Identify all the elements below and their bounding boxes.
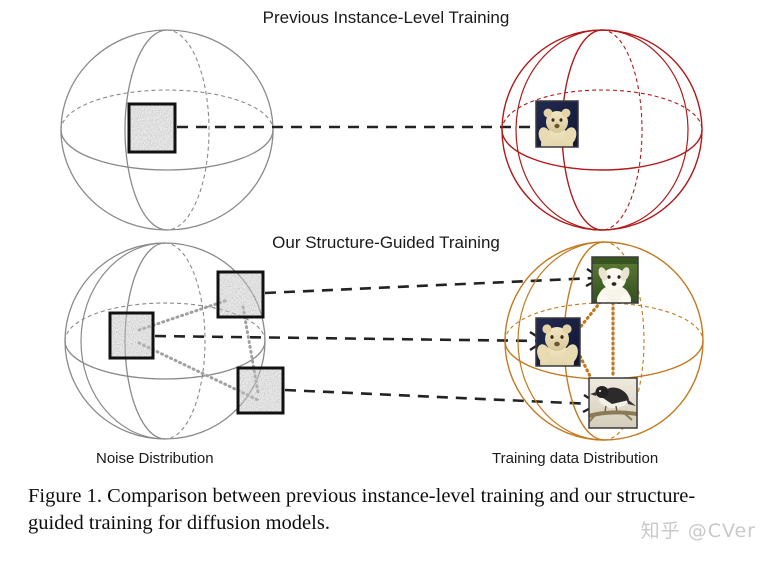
noise-patch-previous [129,104,175,152]
figure-diagram [0,0,772,561]
noise-patch-ours-middle [110,313,153,358]
noise-patch-ours-top [218,272,263,317]
mapping-arrow-ours-middle [155,332,544,350]
figure-caption: Figure 1. Comparison between previous in… [28,483,744,537]
noise-patch-ours-bottom [238,368,283,413]
sample-image-teddy-bear-previous [536,101,578,160]
mapping-arrow-ours-bottom [285,390,598,412]
axis-label-noise-distribution: Noise Distribution [96,450,214,467]
figure-container: Previous Instance-Level Training Our Str… [0,0,772,561]
axis-label-training-data-distribution: Training data Distribution [492,450,658,467]
data-sphere-previous [502,30,702,230]
mapping-arrow-ours-top [265,269,601,293]
watermark-label: 知乎 @CVer [641,516,756,543]
sample-image-dog [592,257,638,313]
sample-image-bird [589,378,637,428]
